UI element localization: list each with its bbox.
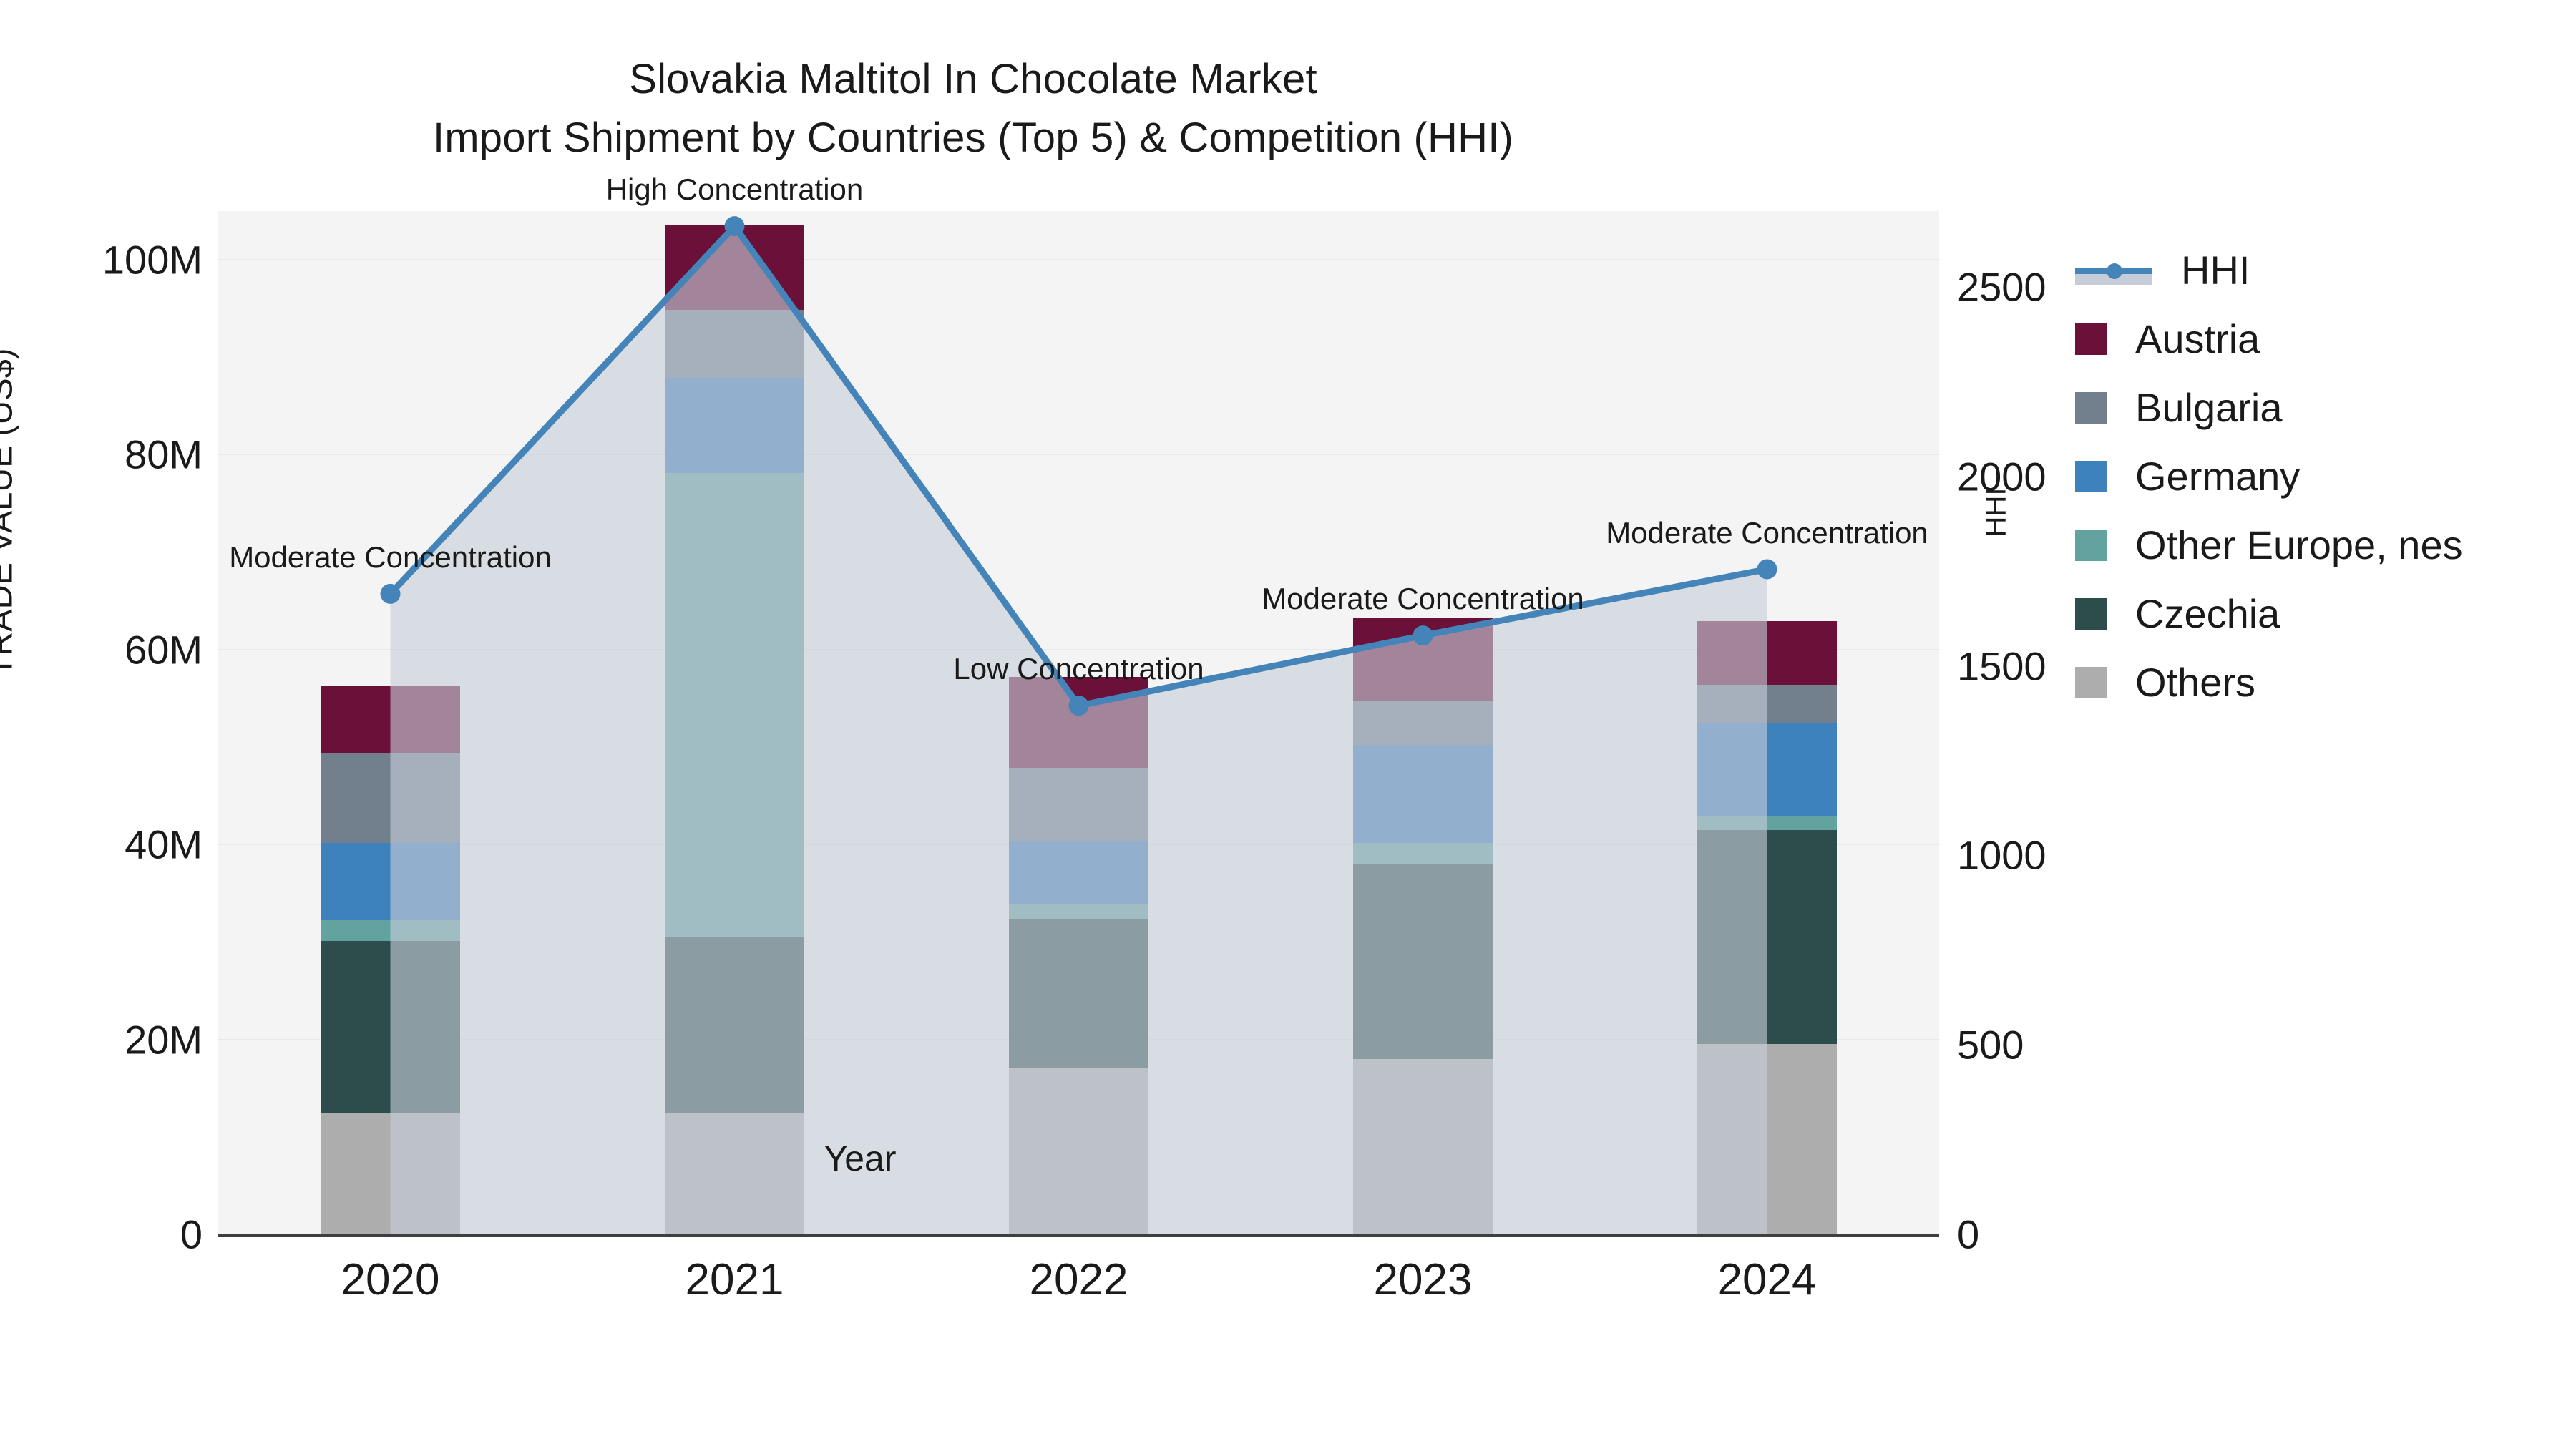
hhi-data-point[interactable] [381, 584, 401, 604]
hhi-annotation: High Concentration [606, 172, 864, 207]
x-axis-tick-label: 2024 [1718, 1254, 1817, 1305]
y-axis-label: TRADE VALUE (US$) [0, 348, 20, 677]
chart-legend: HHIAustriaBulgariaGermanyOther Europe, n… [2075, 236, 2463, 717]
x-axis-label: Year [824, 1138, 896, 1179]
legend-label: Austria [2135, 319, 2260, 359]
legend-swatch [2075, 392, 2107, 424]
legend-label: Others [2135, 663, 2255, 703]
x-axis-tick-label: 2023 [1374, 1254, 1473, 1305]
hhi-annotation: Low Concentration [953, 652, 1204, 686]
hhi-line-series [218, 211, 1939, 1236]
legend-swatch [2075, 598, 2107, 630]
y2-axis-tick-label: 2500 [1957, 263, 2046, 310]
legend-swatch [2075, 461, 2107, 492]
chart-title-line-1: Slovakia Maltitol In Chocolate Market [0, 50, 1946, 109]
y-axis-tick-label: 20M [125, 1016, 203, 1063]
y2-axis-label: HHI [1981, 488, 2013, 537]
legend-swatch [2075, 530, 2107, 561]
x-axis-tick-label: 2020 [341, 1254, 440, 1305]
legend-item[interactable]: Bulgaria [2075, 374, 2463, 442]
hhi-data-point[interactable] [725, 216, 745, 236]
hhi-annotation: Moderate Concentration [1606, 516, 1928, 550]
legend-item[interactable]: Others [2075, 648, 2463, 717]
legend-label: Other Europe, nes [2135, 525, 2463, 565]
hhi-annotation: Moderate Concentration [1262, 582, 1584, 616]
y-axis-tick-label: 100M [102, 237, 203, 283]
y2-axis-tick-label: 500 [1957, 1022, 2024, 1068]
x-axis-line [218, 1234, 1939, 1237]
legend-item[interactable]: Germany [2075, 442, 2463, 511]
legend-item[interactable]: Austria [2075, 305, 2463, 374]
y2-axis-tick-label: 1000 [1957, 832, 2046, 879]
hhi-data-point[interactable] [1069, 696, 1089, 716]
y-axis-tick-label: 0 [180, 1211, 203, 1258]
y-axis-tick-label: 80M [125, 431, 203, 478]
y2-axis-tick-label: 1500 [1957, 643, 2046, 689]
hhi-annotation: Moderate Concentration [229, 540, 552, 575]
legend-label: Czechia [2135, 594, 2280, 634]
legend-label: Germany [2135, 457, 2300, 497]
legend-label: Bulgaria [2135, 388, 2282, 428]
chart-title-line-2: Import Shipment by Countries (Top 5) & C… [0, 109, 1946, 167]
y2-axis-tick-label: 0 [1957, 1211, 1979, 1258]
hhi-data-point[interactable] [1413, 625, 1433, 645]
legend-line-marker [2075, 255, 2152, 286]
legend-item[interactable]: Other Europe, nes [2075, 511, 2463, 580]
legend-label: HHI [2181, 250, 2250, 291]
legend-item[interactable]: HHI [2075, 236, 2463, 305]
chart-figure: Slovakia Maltitol In Chocolate Market Im… [0, 0, 2576, 1449]
legend-swatch [2075, 323, 2107, 355]
x-axis-tick-label: 2021 [686, 1254, 784, 1305]
y-axis-tick-label: 40M [125, 821, 203, 868]
legend-item[interactable]: Czechia [2075, 580, 2463, 648]
plot-area: Moderate ConcentrationHigh Concentration… [218, 211, 1939, 1236]
y-axis-tick-label: 60M [125, 626, 203, 673]
legend-swatch [2075, 667, 2107, 698]
x-axis-tick-label: 2022 [1030, 1254, 1128, 1305]
chart-title: Slovakia Maltitol In Chocolate Market Im… [0, 50, 1946, 168]
hhi-data-point[interactable] [1757, 560, 1777, 580]
